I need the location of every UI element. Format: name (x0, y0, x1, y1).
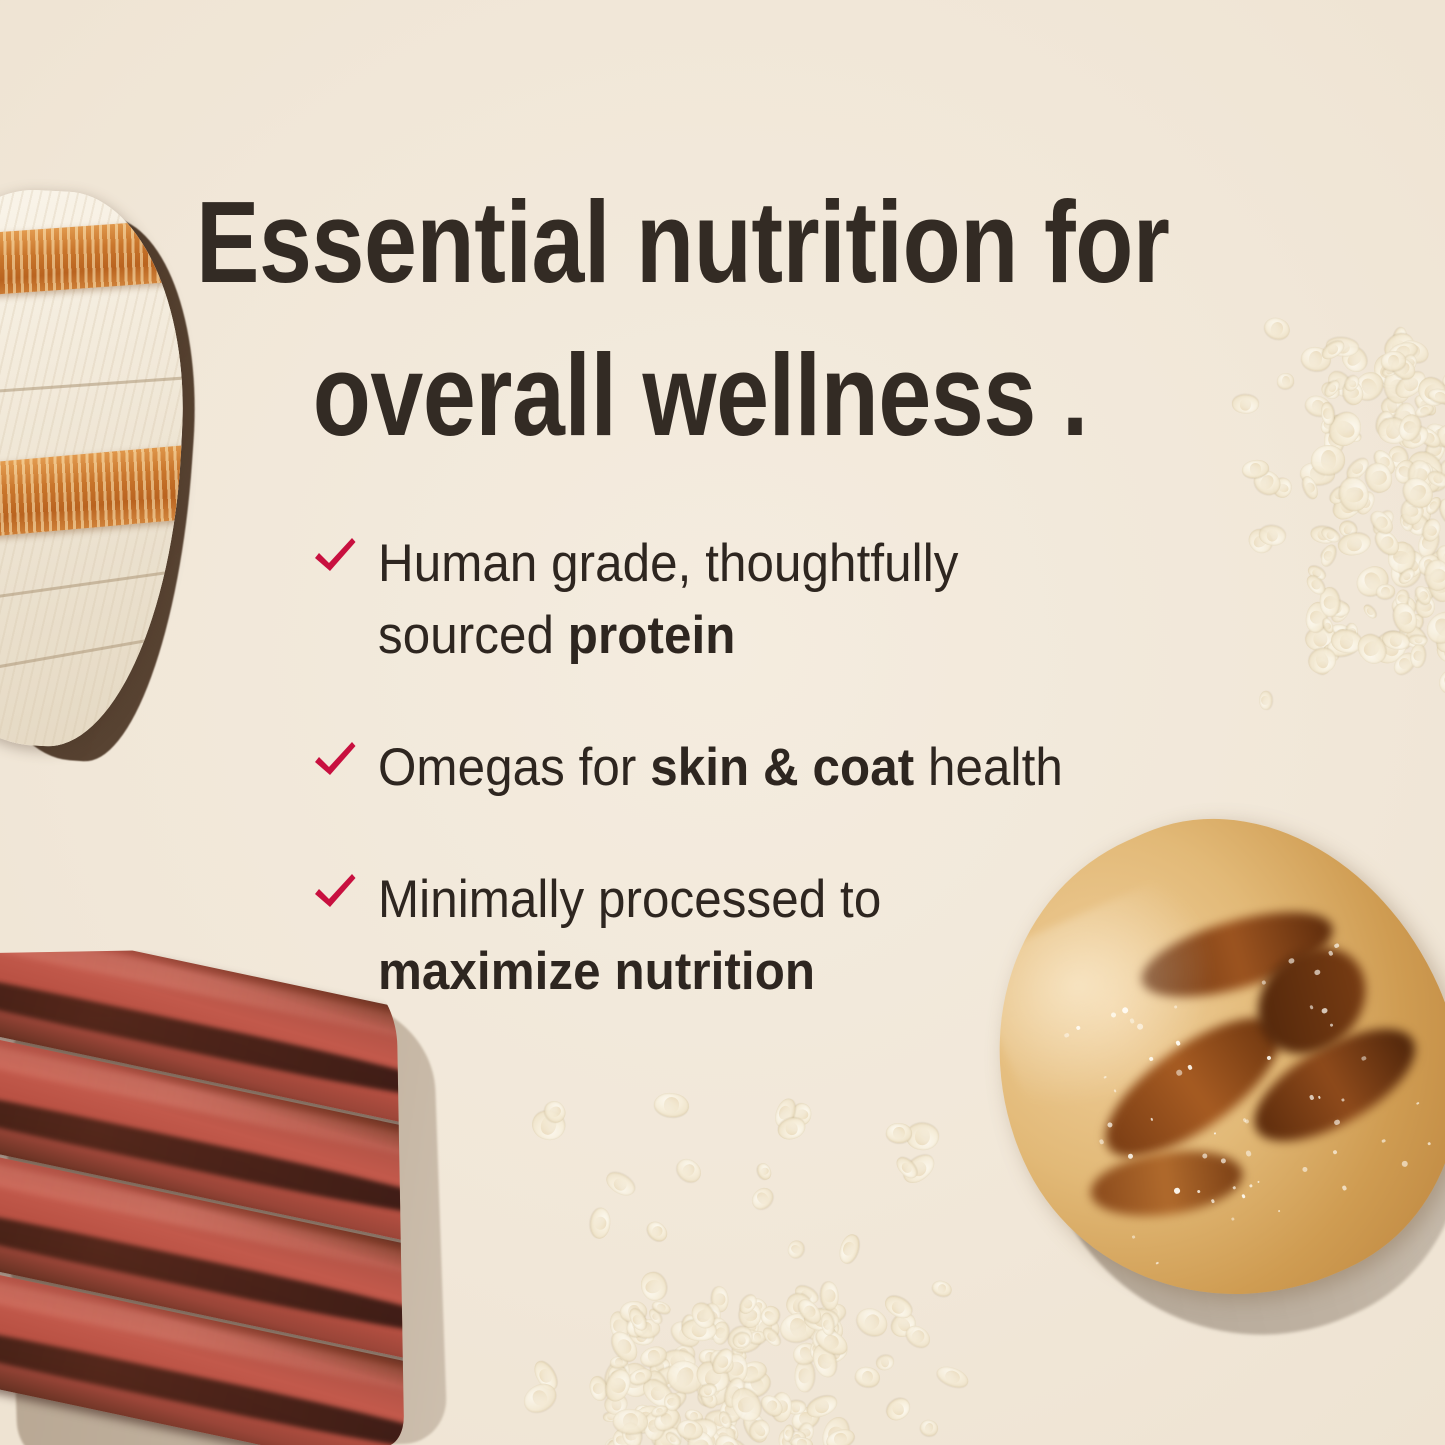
headline-line-1: Essential nutrition for (196, 166, 1106, 319)
check-icon (312, 534, 358, 580)
benefit-text-plain: Minimally processed to (378, 870, 881, 929)
benefits-list: Human grade, thoughtfully sourced protei… (312, 528, 1192, 1008)
benefit-text: Minimally processed to maximize nutritio… (378, 864, 881, 1008)
benefit-text-plain: health (914, 738, 1063, 797)
benefit-text-emphasis: protein (568, 606, 736, 665)
benefit-item: Human grade, thoughtfully sourced protei… (312, 528, 1192, 672)
text-content-layer: Essential nutrition for overall wellness… (0, 0, 1445, 1445)
benefit-item: Minimally processed to maximize nutritio… (312, 864, 1192, 1008)
benefit-item: Omegas for skin & coat health (312, 732, 1192, 804)
headline-line-2: overall wellness . (196, 319, 1106, 472)
benefit-text: Omegas for skin & coat health (378, 732, 1063, 804)
benefit-text-emphasis: skin & coat (650, 738, 914, 797)
page-title: Essential nutrition for overall wellness… (196, 166, 1106, 472)
benefit-text-plain: Omegas for (378, 738, 650, 797)
promo-banner: Essential nutrition for overall wellness… (0, 0, 1445, 1445)
benefit-text: Human grade, thoughtfully sourced protei… (378, 528, 958, 672)
benefit-text-emphasis: maximize nutrition (378, 942, 815, 1001)
check-icon (312, 870, 358, 916)
check-icon (312, 738, 358, 784)
